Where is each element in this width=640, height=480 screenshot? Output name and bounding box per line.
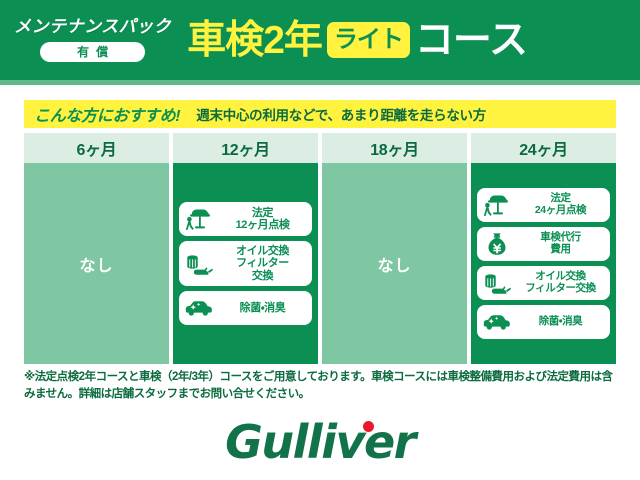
plan-column-header: 12ヶ月 <box>173 133 318 163</box>
plan-column-0: 6ヶ月なし <box>24 133 169 364</box>
plan-column-body: なし <box>24 163 169 364</box>
plan-item-label: 除菌・消臭 <box>218 302 307 314</box>
plan-item: オイル交換 フィルター 交換 <box>179 241 312 286</box>
plan-item-label: オイル交換 フィルター交換 <box>516 271 605 295</box>
plan-column-body: なし <box>322 163 467 364</box>
plan-item: 法定 24ヶ月点検 <box>477 188 610 222</box>
car-lift-inspection-icon <box>184 206 214 232</box>
plan-item: 法定 12ヶ月点検 <box>179 202 312 236</box>
money-bag-yen-icon <box>482 231 512 257</box>
oil-filter-change-icon <box>482 270 512 296</box>
plan-item-label: 法定 12ヶ月点検 <box>218 207 307 232</box>
recommend-bar: こんな方におすすめ! 週末中心の利用などで、あまり距離を走らない方 <box>24 100 616 128</box>
gulliver-logo: Gulliver <box>225 419 415 465</box>
header-bar: メンテナンスパック 有償 車検 2 年 ライト コース <box>0 0 640 80</box>
header-course-label: コース <box>415 21 527 60</box>
plan-item-label: 車検代行 費用 <box>516 232 605 256</box>
car-sanitize-icon <box>482 309 512 335</box>
plan-item: オイル交換 フィルター交換 <box>477 266 610 300</box>
header-main-title: 車検 2 年 ライト コース <box>187 21 626 60</box>
plan-column-header: 6ヶ月 <box>24 133 169 163</box>
header-shaken-label: 車検 <box>187 21 263 60</box>
plan-none-label: なし <box>377 252 411 276</box>
plan-table: 6ヶ月なし12ヶ月法定 12ヶ月点検オイル交換 フィルター 交換除菌・消臭18ヶ… <box>24 133 616 364</box>
plan-none-label: なし <box>79 252 113 276</box>
plan-column-header: 18ヶ月 <box>322 133 467 163</box>
plan-item-label: 除菌・消臭 <box>516 316 605 328</box>
plan-item-label: オイル交換 フィルター 交換 <box>218 245 307 282</box>
plan-item: 除菌・消臭 <box>477 305 610 339</box>
plan-item-label: 法定 24ヶ月点検 <box>516 193 605 217</box>
plan-column-header: 24ヶ月 <box>471 133 616 163</box>
car-sanitize-icon <box>184 295 214 321</box>
advertisement-banner: メンテナンスパック 有償 車検 2 年 ライト コース こんな方におすすめ! 週… <box>0 0 640 480</box>
oil-filter-change-icon <box>184 251 214 277</box>
brand-logo-area: Gulliver <box>0 414 640 470</box>
plan-item: 車検代行 費用 <box>477 227 610 261</box>
header-year-unit: 年 <box>284 21 322 60</box>
recommend-headline: こんな方におすすめ! <box>34 102 180 126</box>
paid-badge: 有償 <box>40 42 145 62</box>
plan-column-2: 18ヶ月なし <box>322 133 467 364</box>
maintenance-pack-block: メンテナンスパック 有償 <box>14 18 171 62</box>
header-underline <box>0 80 640 85</box>
car-lift-inspection-icon <box>482 192 512 218</box>
footnote-text: ※法定点検2年コースと車検（2年/3年）コースをご用意しております。車検コースに… <box>24 369 618 402</box>
maintenance-pack-title: メンテナンスパック <box>14 18 171 37</box>
header-year-number: 2 <box>263 21 284 60</box>
plan-column-1: 12ヶ月法定 12ヶ月点検オイル交換 フィルター 交換除菌・消臭 <box>173 133 318 364</box>
recommend-detail: 週末中心の利用などで、あまり距離を走らない方 <box>196 104 486 124</box>
gulliver-logo-text: Gulliver <box>225 415 415 469</box>
plan-item: 除菌・消臭 <box>179 291 312 325</box>
plan-column-3: 24ヶ月法定 24ヶ月点検車検代行 費用オイル交換 フィルター交換除菌・消臭 <box>471 133 616 364</box>
lite-badge: ライト <box>327 22 410 58</box>
plan-column-body: 法定 24ヶ月点検車検代行 費用オイル交換 フィルター交換除菌・消臭 <box>471 163 616 364</box>
plan-column-body: 法定 12ヶ月点検オイル交換 フィルター 交換除菌・消臭 <box>173 163 318 364</box>
